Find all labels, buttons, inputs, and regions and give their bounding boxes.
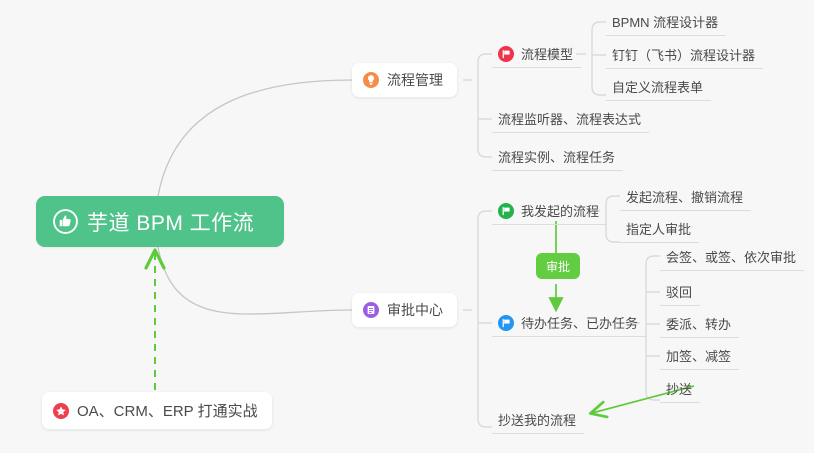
leaf-label-custom-process-form: 自定义流程表单	[612, 77, 703, 96]
leaf-label-dingtalk-feishu-designer: 钉钉（飞书）流程设计器	[612, 45, 755, 64]
lightbulb-icon	[363, 72, 379, 88]
leaf-label-start-cancel-process: 发起流程、撤销流程	[626, 187, 743, 206]
root-node[interactable]: 芋道 BPM 工作流	[36, 196, 284, 247]
document-icon	[363, 302, 379, 318]
leaf-cc[interactable]: 抄送	[660, 375, 700, 403]
leaf-bpmn-designer[interactable]: BPMN 流程设计器	[606, 8, 726, 36]
bottom-node-integration-practice[interactable]: OA、CRM、ERP 打通实战	[42, 392, 272, 429]
connector-process-management-bracket	[463, 54, 492, 157]
root-label: 芋道 BPM 工作流	[87, 207, 254, 237]
bottom-node-label: OA、CRM、ERP 打通实战	[77, 400, 258, 421]
leaf-add-remove-sign[interactable]: 加签、减签	[660, 342, 739, 370]
leaf-label-reject: 驳回	[666, 282, 692, 301]
subnode-label-todo-done-tasks: 待办任务、已办任务	[521, 313, 638, 332]
leaf-start-cancel-process[interactable]: 发起流程、撤销流程	[620, 183, 751, 211]
leaf-cc-to-me-process[interactable]: 抄送我的流程	[492, 406, 584, 434]
subnode-label-process-model: 流程模型	[521, 44, 573, 63]
connector-root-to-process-management	[158, 80, 352, 196]
leaf-assignee-approval[interactable]: 指定人审批	[620, 215, 699, 243]
leaf-custom-process-form[interactable]: 自定义流程表单	[606, 73, 711, 101]
star-icon	[53, 403, 69, 419]
leaf-label-process-instance-task: 流程实例、流程任务	[498, 147, 615, 166]
leaf-label-cc: 抄送	[666, 379, 692, 398]
leaf-process-instance-task[interactable]: 流程实例、流程任务	[492, 143, 623, 171]
leaf-label-delegate-transfer: 委派、转办	[666, 314, 731, 333]
leaf-label-assignee-approval: 指定人审批	[626, 219, 691, 238]
branch-label-approval-center: 审批中心	[387, 300, 443, 320]
branch-node-approval-center[interactable]: 审批中心	[352, 293, 457, 327]
subnode-process-model[interactable]: 流程模型	[492, 40, 581, 68]
subnode-label-my-initiated-process: 我发起的流程	[521, 201, 599, 220]
leaf-label-process-listener-expression: 流程监听器、流程表达式	[498, 109, 641, 128]
leaf-delegate-transfer[interactable]: 委派、转办	[660, 310, 739, 338]
leaf-label-add-remove-sign: 加签、减签	[666, 346, 731, 365]
connector-approval-center-bracket	[463, 211, 492, 427]
leaf-label-bpmn-designer: BPMN 流程设计器	[612, 12, 718, 31]
branch-node-process-management[interactable]: 流程管理	[352, 63, 457, 97]
approval-badge[interactable]: 审批	[536, 253, 580, 279]
flag-icon	[498, 46, 514, 62]
thumbs-up-icon	[53, 209, 78, 234]
approval-badge-label: 审批	[546, 258, 570, 275]
leaf-reject[interactable]: 驳回	[660, 278, 700, 306]
branch-label-process-management: 流程管理	[387, 70, 443, 90]
flag-icon	[498, 203, 514, 219]
leaf-label-cc-to-me-process: 抄送我的流程	[498, 410, 576, 429]
leaf-countersign-or-sequential[interactable]: 会签、或签、依次审批	[660, 243, 804, 271]
leaf-process-listener-expression[interactable]: 流程监听器、流程表达式	[492, 105, 649, 133]
flag-icon	[498, 315, 514, 331]
connector-root-to-approval-center	[158, 247, 352, 314]
leaf-label-countersign-or-sequential: 会签、或签、依次审批	[666, 247, 796, 266]
subnode-my-initiated-process[interactable]: 我发起的流程	[492, 197, 607, 225]
subnode-todo-done-tasks[interactable]: 待办任务、已办任务	[492, 309, 646, 337]
mindmap-canvas: 芋道 BPM 工作流 流程管理 流程模型 BPMN 流程设计器 钉钉（飞书）流程	[0, 0, 814, 453]
leaf-dingtalk-feishu-designer[interactable]: 钉钉（飞书）流程设计器	[606, 41, 763, 69]
